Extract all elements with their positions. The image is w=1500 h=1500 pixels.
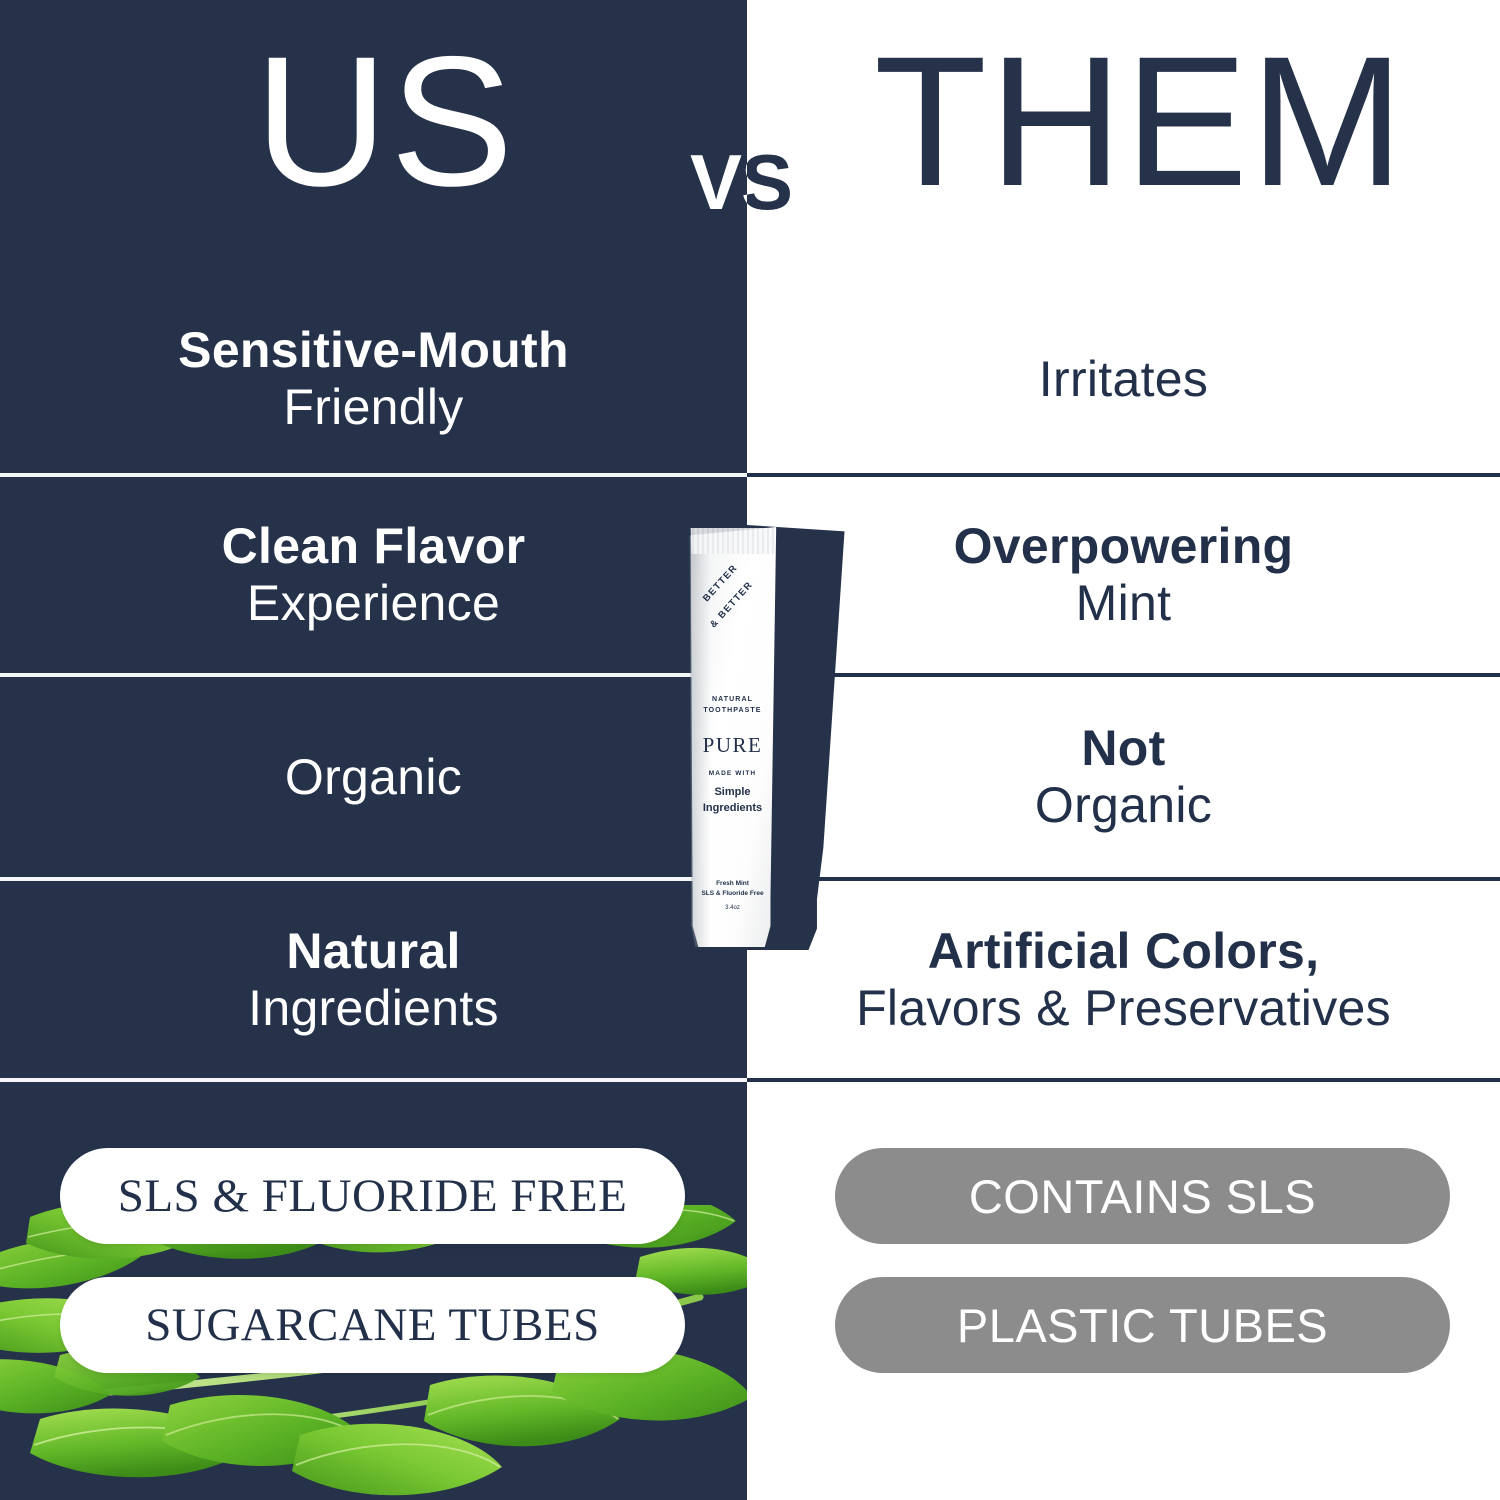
vs-label-white-half: VS [690, 130, 830, 235]
row-4-us-cell: Natural Ingredients [0, 881, 747, 1078]
row-2-us-line2: Experience [247, 575, 500, 632]
product-category: NATURAL TOOTHPASTE [685, 695, 780, 716]
row-3-them-line1: Not [1081, 720, 1165, 777]
comparison-row-1: Sensitive-Mouth Friendly Irritates [0, 285, 1500, 473]
us-vs-them-comparison-infographic: US THEM VS VS Sensitive-Mouth Friendly I… [0, 0, 1500, 1500]
us-badge-group: SLS & FLUORIDE FREE SUGARCANE TUBES [60, 1148, 685, 1373]
vs-label-navy-half: VS [690, 130, 830, 235]
them-badge-plastic-tubes[interactable]: PLASTIC TUBES [835, 1277, 1450, 1373]
them-badge-group: CONTAINS SLS PLASTIC TUBES [835, 1148, 1450, 1373]
row-4-us-line1: Natural [286, 923, 460, 980]
product-size: 3.4oz [685, 905, 780, 911]
product-brand-arc: BETTER & BETTER [693, 585, 777, 651]
product-simple-ingredients: Simple Ingredients [685, 785, 780, 817]
row-2-us-cell: Clean Flavor Experience [0, 477, 747, 673]
product-name: PURE [685, 733, 780, 758]
product-simple-line1: Simple [685, 785, 780, 801]
row-3-them-line2: Organic [1035, 777, 1212, 834]
row-4-them-line2: Flavors & Preservatives [856, 980, 1391, 1037]
row-3-us-line1: Organic [285, 749, 462, 806]
us-badge-sls-fluoride-free[interactable]: SLS & FLUORIDE FREE [60, 1148, 685, 1244]
row-2-them-line2: Mint [1076, 575, 1172, 632]
row-3-us-cell: Organic [0, 677, 747, 877]
product-made-with: MADE WITH [685, 770, 780, 777]
product-fresh-line1: Fresh Mint [685, 879, 780, 889]
row-4-us-line2: Ingredients [248, 980, 499, 1037]
header: US THEM VS VS [0, 0, 1500, 285]
us-badge-sugarcane-tubes[interactable]: SUGARCANE TUBES [60, 1277, 685, 1373]
row-2-us-line1: Clean Flavor [222, 518, 526, 575]
row-1-us-line2: Friendly [283, 379, 463, 436]
product-fresh-claims: Fresh Mint SLS & Fluoride Free [685, 879, 780, 900]
row-divider-right-4 [747, 1078, 1500, 1082]
header-them-title: THEM [830, 30, 1450, 215]
product-tube: BETTER & BETTER NATURAL TOOTHPASTE PURE … [665, 505, 865, 970]
product-simple-line2: Ingredients [685, 801, 780, 817]
row-2-them-line1: Overpowering [954, 518, 1294, 575]
row-1-them-line1: Irritates [1039, 351, 1208, 408]
header-us-title: US [150, 30, 620, 215]
product-fresh-line2: SLS & Fluoride Free [685, 889, 780, 899]
row-1-them-cell: Irritates [747, 285, 1500, 473]
them-badge-contains-sls[interactable]: CONTAINS SLS [835, 1148, 1450, 1244]
row-1-us-cell: Sensitive-Mouth Friendly [0, 285, 747, 473]
row-divider-left-4 [0, 1078, 747, 1082]
row-4-them-line1: Artificial Colors, [928, 923, 1320, 980]
row-1-us-line1: Sensitive-Mouth [178, 322, 569, 379]
product-tube-label: BETTER & BETTER NATURAL TOOTHPASTE PURE … [685, 527, 780, 947]
